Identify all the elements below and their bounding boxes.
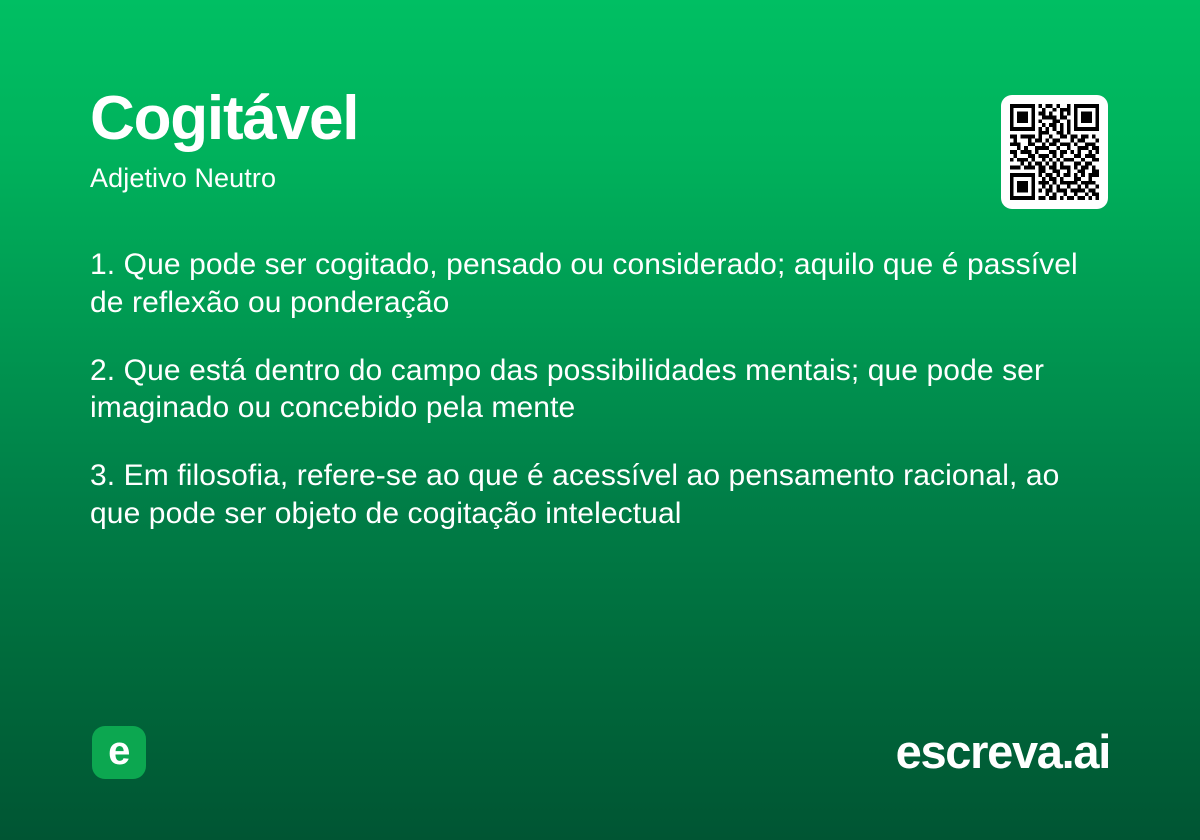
definition-item: 3. Em filosofia, refere-se ao que é aces…	[90, 457, 1100, 533]
word-class-label: Adjetivo Neutro	[90, 164, 970, 194]
brand-wordmark: escreva.ai	[896, 727, 1110, 776]
logo-letter: e	[108, 731, 130, 771]
definition-item: 1. Que pode ser cogitado, pensado ou con…	[90, 246, 1100, 322]
page-title: Cogitável	[90, 88, 970, 150]
qr-code-card[interactable]	[1001, 95, 1108, 209]
qr-code-icon	[1010, 104, 1099, 200]
header: Cogitável Adjetivo Neutro	[90, 88, 970, 194]
definition-list: 1. Que pode ser cogitado, pensado ou con…	[90, 246, 1100, 533]
definition-item: 2. Que está dentro do campo das possibil…	[90, 352, 1100, 428]
logo-icon[interactable]: e	[92, 726, 146, 779]
